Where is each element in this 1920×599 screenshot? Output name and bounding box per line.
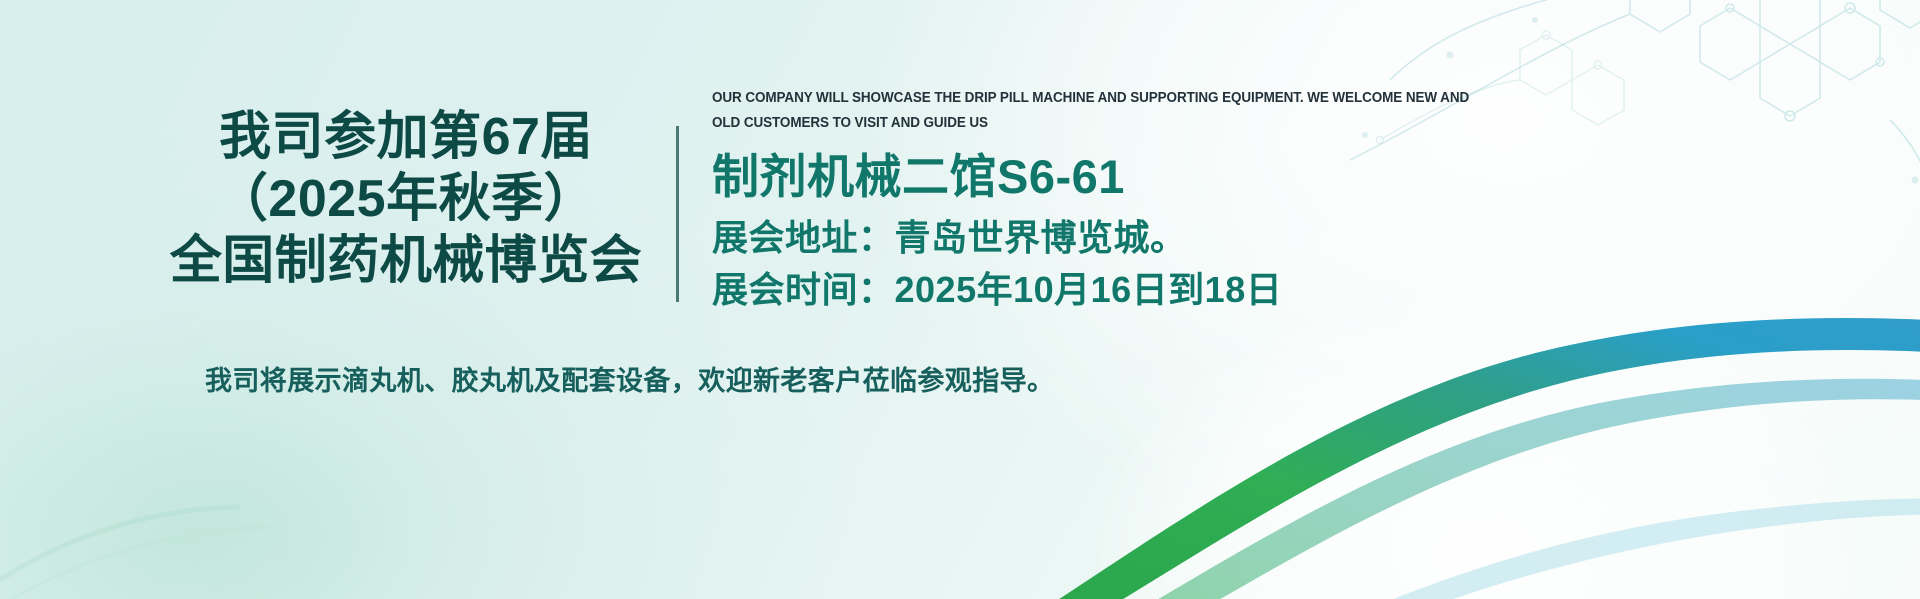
headline-line-2: （2025年秋季） — [132, 168, 680, 230]
headline-line-1: 我司参加第67届 — [132, 106, 680, 168]
exhibition-address: 展会地址：青岛世界博览城。 — [712, 213, 1482, 263]
banner-caption: 我司将展示滴丸机、胶丸机及配套设备，欢迎新老客户莅临参观指导。 — [205, 362, 1054, 400]
vertical-divider — [676, 126, 679, 302]
exhibition-time: 展会时间：2025年10月16日到18日 — [712, 265, 1482, 315]
green-blue-ribbon-decoration — [1050, 279, 1920, 599]
white-highlight-decoration — [1100, 299, 1860, 599]
exhibition-banner: 我司参加第67届 （2025年秋季） 全国制药机械博览会 OUR COMPANY… — [0, 0, 1920, 599]
hall-booth-number: 制剂机械二馆S6-61 — [712, 149, 1482, 205]
banner-details: OUR COMPANY WILL SHOWCASE THE DRIP PILL … — [712, 86, 1482, 315]
banner-headline: 我司参加第67届 （2025年秋季） 全国制药机械博览会 — [132, 106, 680, 292]
headline-line-3: 全国制药机械博览会 — [132, 230, 680, 292]
bottom-left-arc-decoration — [0, 399, 360, 599]
english-subtitle: OUR COMPANY WILL SHOWCASE THE DRIP PILL … — [712, 86, 1475, 136]
